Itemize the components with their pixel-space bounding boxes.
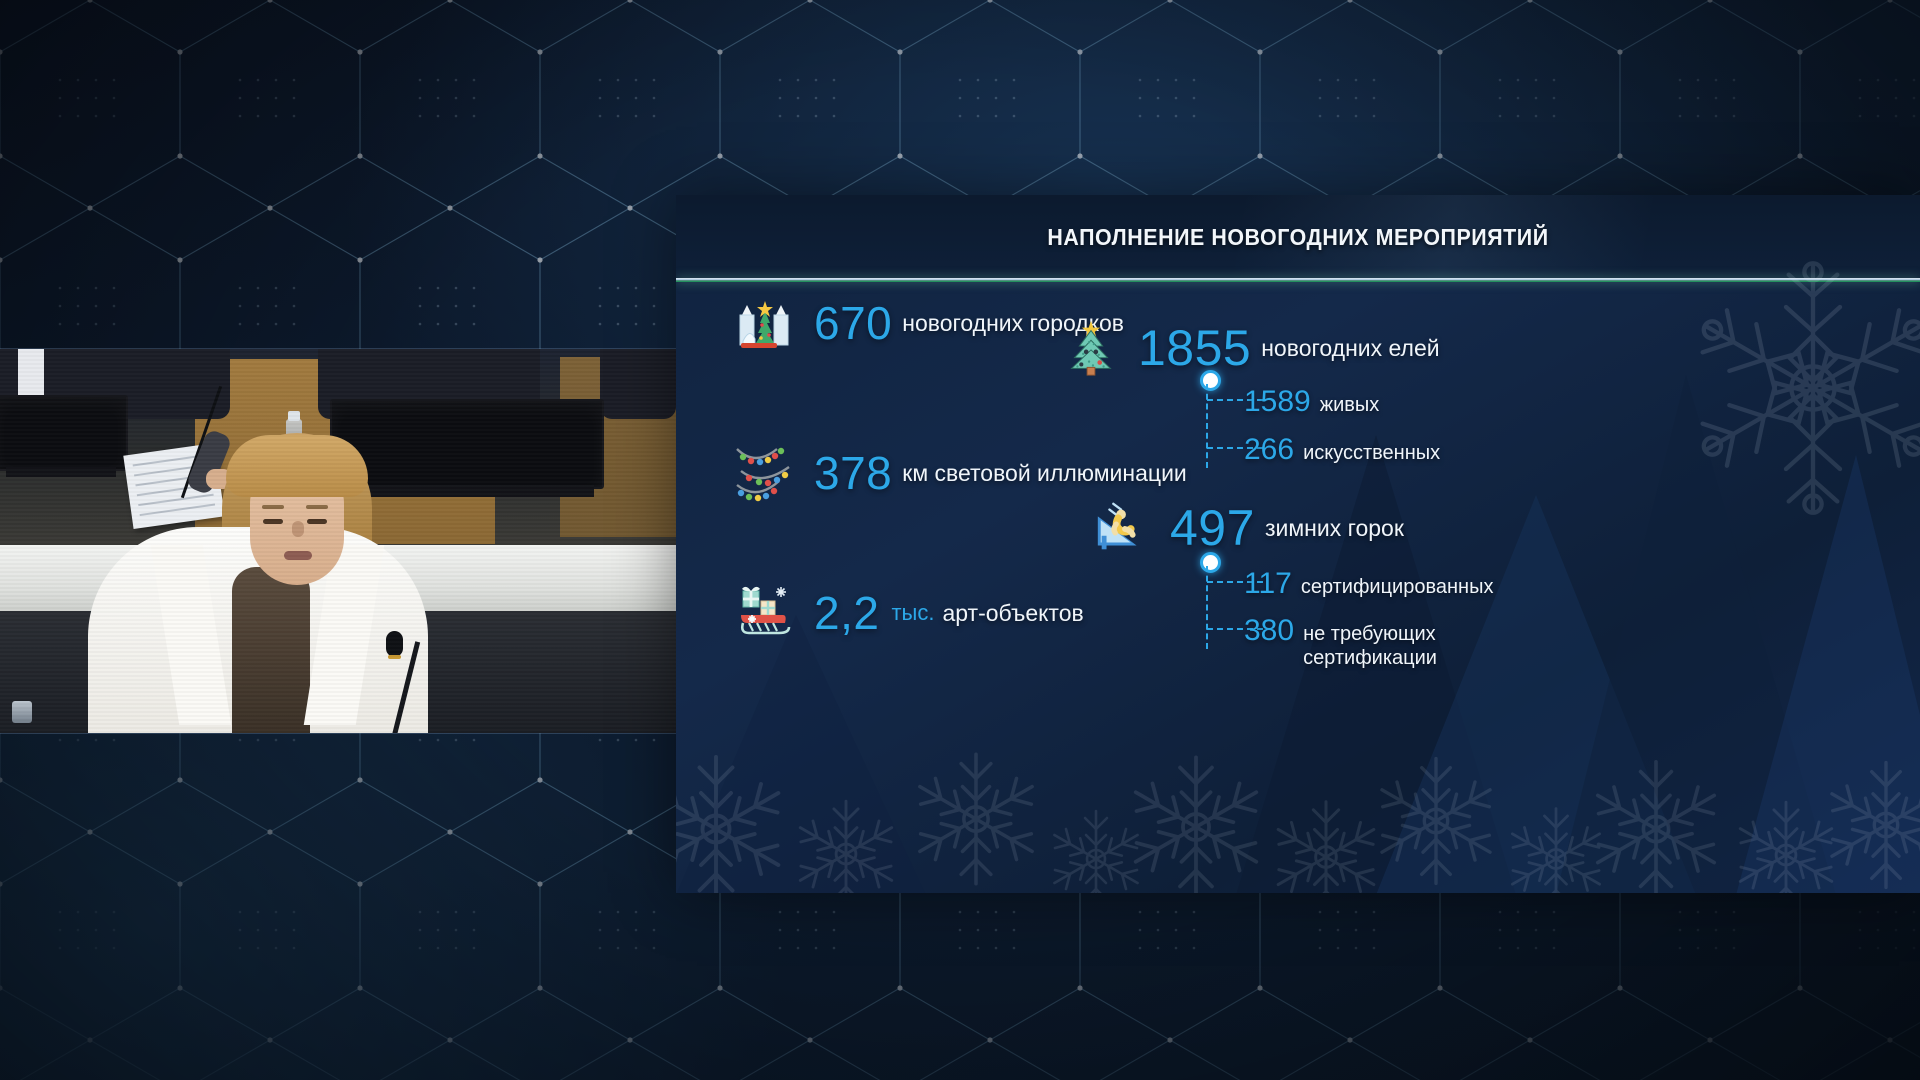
laptop-screen-left [0, 395, 128, 471]
speaker-brow-right [306, 505, 328, 509]
conference-video-feed[interactable] [0, 349, 676, 733]
stat-value-illumination: 378 [814, 450, 892, 496]
laptop-screen-right [330, 399, 604, 489]
sub-stat-value: 266 [1244, 435, 1294, 465]
ice-town-icon [732, 288, 802, 358]
connector-trunk [1206, 384, 1208, 468]
sub-stat-artificial-trees: 266 искусственных [1244, 435, 1440, 466]
garland-lights-icon [732, 438, 802, 508]
stat-value-towns: 670 [814, 300, 892, 346]
speaker-eye-right [307, 519, 327, 524]
sub-stat-value: 117 [1244, 569, 1292, 599]
sub-stat-label: сертифицированных [1301, 576, 1494, 600]
sub-stat-value: 380 [1244, 616, 1294, 646]
broadcast-stage: НАПОЛНЕНИЕ НОВОГОДНИХ МЕРОПРИЯТИЙ [0, 0, 1920, 1080]
stat-row-slides: 497 зимних горок [1088, 493, 1404, 563]
attendee-suit-far-right [600, 349, 676, 419]
stat-value-art-objects: 2,2 [814, 590, 879, 636]
speaker-hair-front [226, 435, 368, 497]
stat-unit-art-objects: тыс. [891, 600, 934, 626]
microphone-band [388, 655, 401, 659]
christmas-tree-icon [1056, 313, 1126, 383]
connector-dot [1200, 552, 1221, 573]
stat-value-trees: 1855 [1138, 323, 1251, 373]
sub-stat-label: искусственных [1303, 442, 1440, 466]
stat-value-slides: 497 [1170, 503, 1255, 553]
sub-stat-value: 1589 [1244, 387, 1311, 417]
winter-slide-icon [1088, 493, 1158, 563]
sub-stat-label: живых [1320, 394, 1380, 418]
water-glass [12, 701, 32, 723]
sub-stat-live-trees: 1589 живых [1244, 387, 1379, 418]
attendee-shirt-left [18, 349, 44, 401]
sub-stat-label: не требующих сертификации [1303, 623, 1533, 670]
sub-stat-certified-slides: 117 сертифицированных [1244, 569, 1493, 600]
speaker-nose [292, 521, 304, 537]
speaker-mouth [284, 551, 312, 560]
connector-trunk [1206, 566, 1208, 649]
microphone-head [386, 631, 403, 657]
speaker-blouse [232, 567, 310, 733]
stat-label-art-objects: арт-объектов [942, 600, 1083, 627]
sub-stat-noncertified-slides: 380 не требующих сертификации [1244, 616, 1533, 670]
stat-label-illumination: км световой иллюминации [902, 460, 1187, 487]
presentation-slide: НАПОЛНЕНИЕ НОВОГОДНИХ МЕРОПРИЯТИЙ [676, 195, 1920, 893]
stat-row-art-objects: 2,2 тыс. арт-объектов [732, 578, 1084, 648]
connector-dot [1200, 370, 1221, 391]
stat-label-slides: зимних горок [1265, 515, 1404, 542]
laptop-base-left [6, 467, 116, 477]
snowflake-band-decoration [676, 709, 1920, 893]
speaker-brow-left [262, 505, 284, 509]
gift-sleigh-icon [732, 578, 802, 648]
laptop-base-right [344, 485, 594, 497]
stat-label-trees: новогодних елей [1261, 335, 1439, 362]
stat-row-trees: 1855 новогодних елей [1056, 313, 1440, 383]
bottle-cap [288, 411, 300, 421]
snowflake-icon [1678, 253, 1920, 523]
speaker-eye-left [263, 519, 283, 524]
